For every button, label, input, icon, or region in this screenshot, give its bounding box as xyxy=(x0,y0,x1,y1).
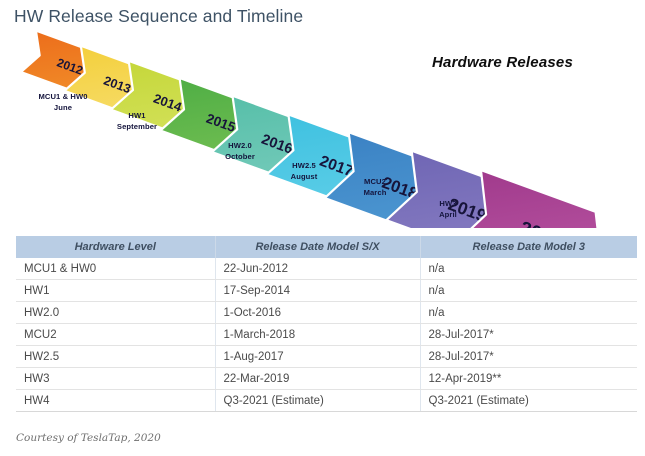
page-title: HW Release Sequence and Timeline xyxy=(14,6,303,27)
table-cell: MCU2 xyxy=(16,324,215,346)
milestone-label-hw2-5: HW2.5 August xyxy=(291,161,318,183)
milestone-subtitle: June xyxy=(38,103,87,114)
table-cell: 1-Oct-2016 xyxy=(215,302,420,324)
milestone-subtitle: October xyxy=(225,152,255,163)
table-cell: 22-Mar-2019 xyxy=(215,368,420,390)
footer-credit: Courtesy of TeslaTap, 2020 xyxy=(16,432,161,444)
column-header-release-date-sx: Release Date Model S/X xyxy=(215,236,420,258)
milestone-subtitle: August xyxy=(291,172,318,183)
table-cell: 22-Jun-2012 xyxy=(215,258,420,280)
table-cell: 17-Sep-2014 xyxy=(215,280,420,302)
table-header-row: Hardware Level Release Date Model S/X Re… xyxy=(16,236,637,258)
milestone-title: HW2.0 xyxy=(228,141,252,150)
release-table: Hardware Level Release Date Model S/X Re… xyxy=(16,236,637,412)
column-header-release-date-m3: Release Date Model 3 xyxy=(420,236,637,258)
table-cell: 28-Jul-2017* xyxy=(420,324,637,346)
table-row: HW2.01-Oct-2016n/a xyxy=(16,302,637,324)
table-cell: HW4 xyxy=(16,390,215,412)
table-row: MCU1 & HW022-Jun-2012n/a xyxy=(16,258,637,280)
column-header-hardware-level: Hardware Level xyxy=(16,236,215,258)
table-row: HW117-Sep-2014n/a xyxy=(16,280,637,302)
milestone-title: HW1 xyxy=(128,111,145,120)
milestone-label-hw2-0: HW2.0 October xyxy=(225,141,255,163)
table-row: HW2.51-Aug-201728-Jul-2017* xyxy=(16,346,637,368)
table-row: HW322-Mar-201912-Apr-2019** xyxy=(16,368,637,390)
table-cell: HW3 xyxy=(16,368,215,390)
table-cell: HW1 xyxy=(16,280,215,302)
table-cell: MCU1 & HW0 xyxy=(16,258,215,280)
table-cell: Q3-2021 (Estimate) xyxy=(215,390,420,412)
milestone-title: HW3 xyxy=(439,199,456,208)
milestone-label-hw3: HW3 April xyxy=(439,199,457,221)
milestone-label-mcu2: MCU2 March xyxy=(364,177,387,199)
table-cell: 28-Jul-2017* xyxy=(420,346,637,368)
table-row: MCU21-March-201828-Jul-2017* xyxy=(16,324,637,346)
table-cell: 12-Apr-2019** xyxy=(420,368,637,390)
table-cell: 1-March-2018 xyxy=(215,324,420,346)
milestone-label-hw1: HW1 September xyxy=(117,111,157,133)
table-cell: HW2.5 xyxy=(16,346,215,368)
table-cell: Q3-2021 (Estimate) xyxy=(420,390,637,412)
milestone-subtitle: April xyxy=(439,210,457,221)
hardware-releases-caption: Hardware Releases xyxy=(432,54,573,71)
table-cell: n/a xyxy=(420,258,637,280)
table-cell: n/a xyxy=(420,280,637,302)
milestone-label-mcu1-hw0: MCU1 & HW0 June xyxy=(38,92,87,114)
milestone-title: MCU1 & HW0 xyxy=(38,92,87,101)
milestone-subtitle: March xyxy=(364,188,387,199)
milestone-title: HW2.5 xyxy=(292,161,316,170)
table-cell: 1-Aug-2017 xyxy=(215,346,420,368)
milestone-title: MCU2 xyxy=(364,177,386,186)
table-cell: HW2.0 xyxy=(16,302,215,324)
milestone-subtitle: September xyxy=(117,122,157,133)
table-cell: n/a xyxy=(420,302,637,324)
table-row: HW4Q3-2021 (Estimate)Q3-2021 (Estimate) xyxy=(16,390,637,412)
